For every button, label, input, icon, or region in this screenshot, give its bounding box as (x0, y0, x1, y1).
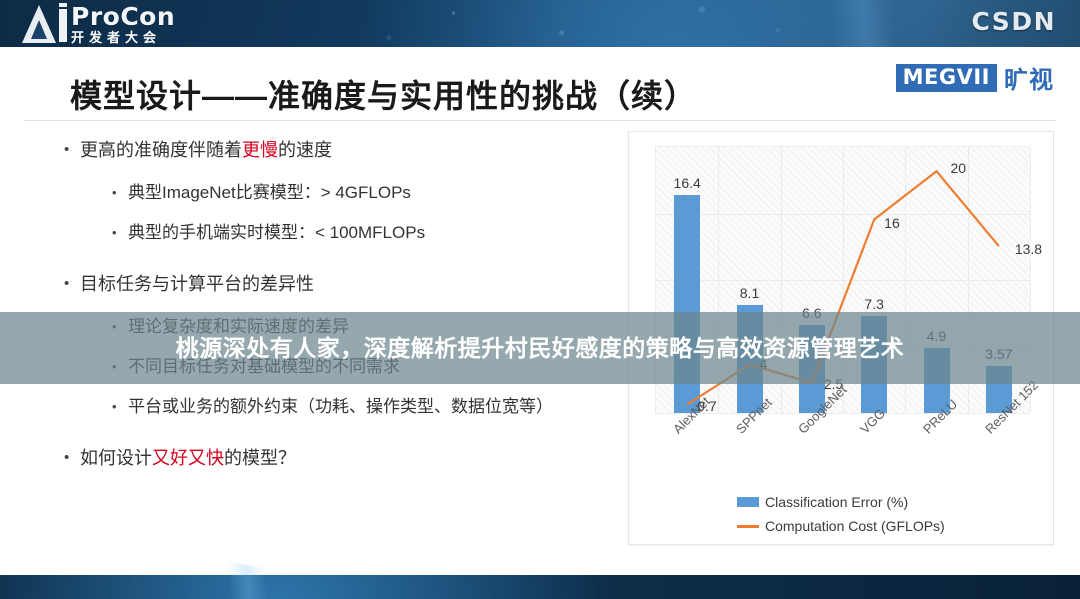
megvii-logo-cn: 旷视 (1004, 60, 1054, 95)
bullet-marker-icon: • (64, 443, 80, 473)
legend-item-computation-cost: Computation Cost (GFLOPs) (737, 518, 945, 534)
ai-mark-icon (22, 3, 68, 45)
bullet-marker-icon: • (64, 269, 80, 299)
title-divider (24, 120, 1056, 121)
conference-header-bar: ProCon 开发者大会 CSDN (0, 0, 1080, 47)
bullet-item: • 更高的准确度伴随着更慢的速度 (64, 135, 624, 165)
line-value-label: 16 (884, 215, 900, 231)
bullet-text: 更高的准确度伴随着更慢的速度 (80, 135, 332, 165)
bullet-item: • 平台或业务的额外约束（功耗、操作类型、数据位宽等） (112, 387, 624, 427)
chart-x-axis-labels: AlexNetSPPnetGoogleNetVGGPReLUResNet 152 (655, 420, 1031, 490)
overlay-banner-text: 桃源深处有人家，深度解析提升村民好感度的策略与高效资源管理艺术 (40, 332, 1040, 365)
logo-procon-text: ProCon (71, 4, 175, 29)
bullet-item: • 目标任务与计算平台的差异性 (64, 269, 624, 299)
header-light-streak (720, 0, 999, 47)
bullet-item: • 典型ImageNet比赛模型：> 4GFLOPs (112, 173, 624, 213)
presentation-slide: MEGVII 旷视 模型设计——准确度与实用性的挑战（续） • 更高的准确度伴随… (0, 47, 1080, 575)
chart-legend: Classification Error (%) Computation Cos… (737, 494, 945, 542)
highlight-text: 又好又快 (152, 448, 224, 468)
bullet-text: 目标任务与计算平台的差异性 (80, 269, 314, 299)
legend-item-classification-error: Classification Error (%) (737, 494, 945, 510)
csdn-logo: CSDN (972, 7, 1057, 36)
megvii-logo-en: MEGVII (896, 64, 997, 92)
line-value-label: 20 (951, 160, 967, 176)
bullet-text: 如何设计又好又快的模型？ (80, 443, 296, 473)
aiprocon-logo: ProCon 开发者大会 (22, 3, 175, 45)
bullet-item: • 典型的手机端实时模型：< 100MFLOPs (112, 213, 624, 253)
legend-line-swatch-icon (737, 525, 759, 528)
bullet-text: 典型的手机端实时模型：< 100MFLOPs (128, 213, 425, 253)
legend-label: Classification Error (%) (765, 494, 908, 510)
legend-bar-swatch-icon (737, 497, 759, 507)
bullet-text: 平台或业务的额外约束（功耗、操作类型、数据位宽等） (128, 387, 553, 427)
bullet-marker-icon: • (64, 135, 80, 165)
bullet-item: • 如何设计又好又快的模型？ (64, 443, 624, 473)
logo-subtitle-text: 开发者大会 (71, 30, 175, 45)
overlay-banner: 桃源深处有人家，深度解析提升村民好感度的策略与高效资源管理艺术 (0, 312, 1080, 384)
bullet-marker-icon: • (112, 213, 128, 253)
bullet-text: 典型ImageNet比赛模型：> 4GFLOPs (128, 173, 411, 213)
slide-screenshot: ProCon 开发者大会 CSDN MEGVII 旷视 模型设计——准确度与实用… (0, 0, 1080, 599)
footer-bar (0, 575, 1080, 599)
highlight-text: 更慢 (242, 140, 278, 160)
legend-label: Computation Cost (GFLOPs) (765, 518, 945, 534)
bullet-marker-icon: • (112, 173, 128, 213)
bullet-list: • 更高的准确度伴随着更慢的速度 • 典型ImageNet比赛模型：> 4GFL… (64, 135, 624, 475)
megvii-logo: MEGVII 旷视 (896, 60, 1054, 95)
slide-title: 模型设计——准确度与实用性的挑战（续） (70, 71, 697, 117)
line-value-label: 13.8 (1015, 241, 1042, 257)
bullet-marker-icon: • (112, 387, 128, 427)
